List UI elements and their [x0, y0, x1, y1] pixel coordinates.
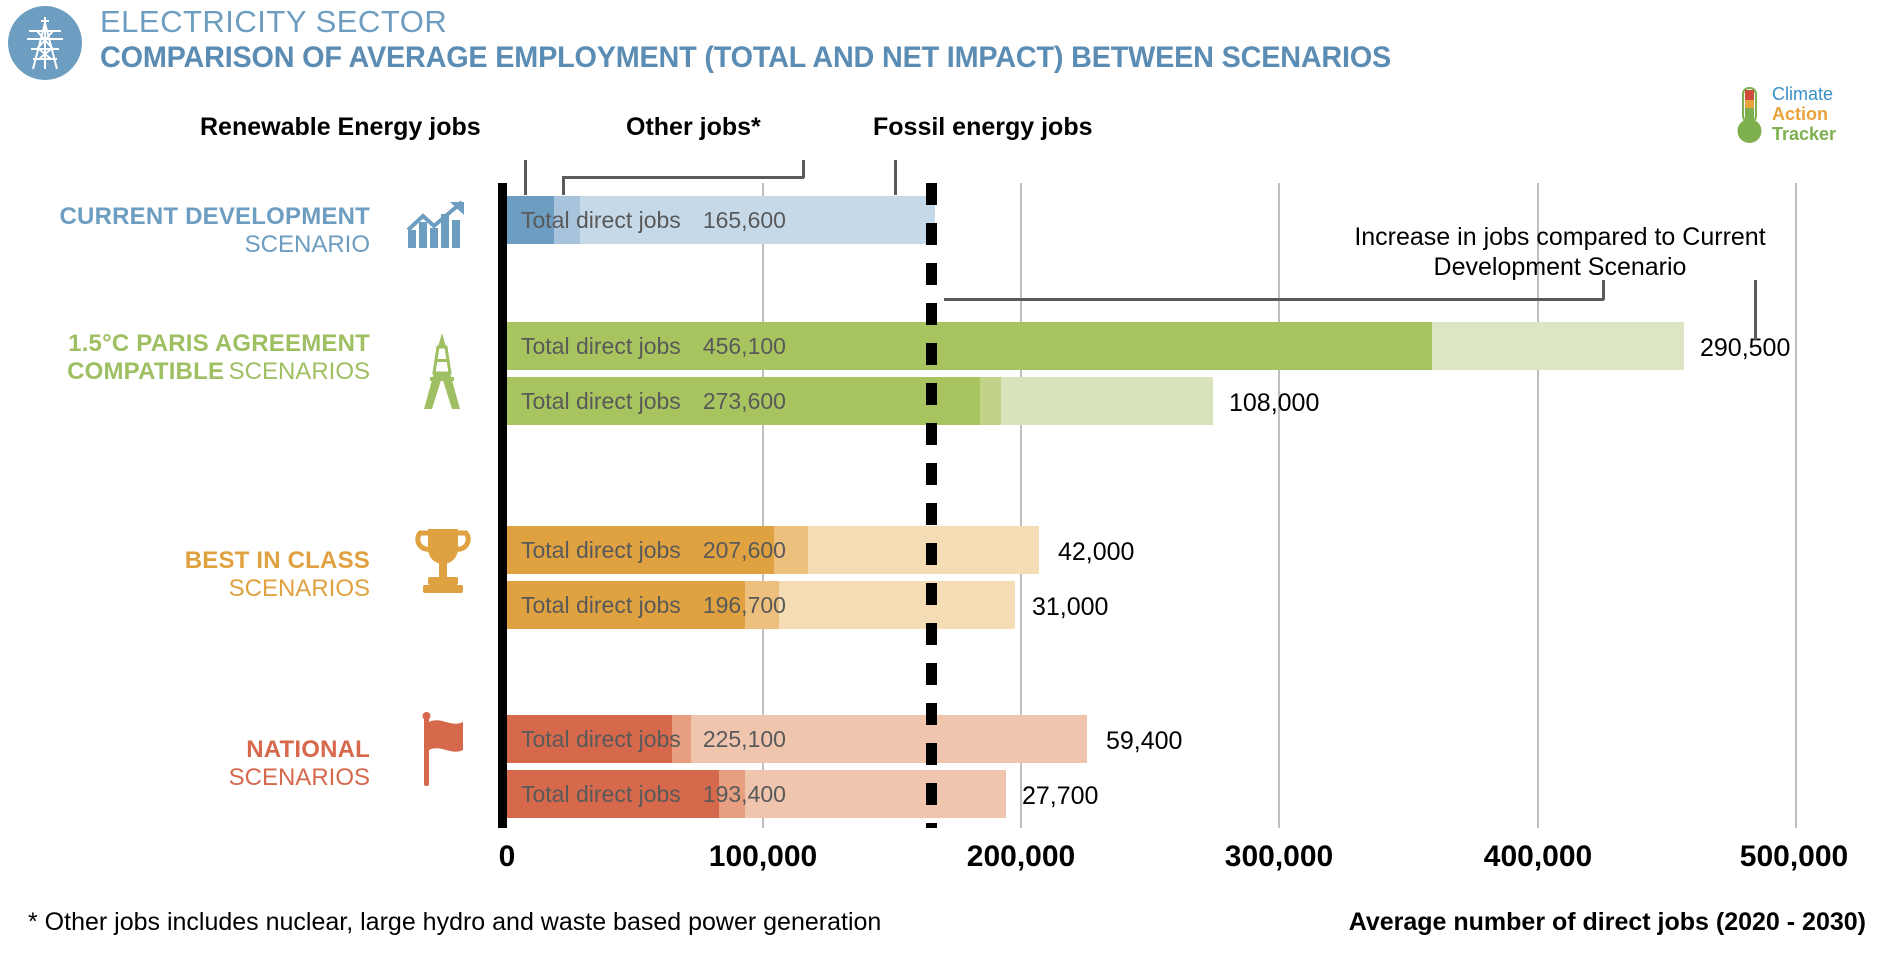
x-tick-200000: 200,000 [967, 840, 1075, 874]
row-label-bold-0: CURRENT DEVELOPMENT [0, 203, 370, 231]
x-tick-100000: 100,000 [709, 840, 817, 874]
delta-label-3: 42,000 [1058, 538, 1134, 567]
delta-label-2: 108,000 [1229, 389, 1319, 418]
delta-label-4: 31,000 [1032, 593, 1108, 622]
bar-value-label-2: Total direct jobs 273,600 [521, 377, 786, 425]
bar-row-4[interactable]: Total direct jobs 196,700 [507, 581, 1015, 629]
row-label-light-2: SCENARIOS [0, 575, 370, 603]
row-label-light-0: SCENARIO [0, 231, 370, 259]
bar-row-2[interactable]: Total direct jobs 273,600 [507, 377, 1213, 425]
bar-value-label-5: Total direct jobs 225,100 [521, 715, 786, 763]
bar-segment-fossil [779, 581, 1015, 629]
chart-plot-area: CURRENT DEVELOPMENT SCENARIO Total direc… [0, 0, 1884, 953]
bar-value-label-6: Total direct jobs 193,400 [521, 770, 786, 818]
x-tick-0: 0 [499, 840, 516, 874]
row-label-light-3: SCENARIOS [0, 764, 370, 792]
bar-value-label-4: Total direct jobs 196,700 [521, 581, 786, 629]
flag-icon [416, 712, 474, 788]
row-label-bold-2: BEST IN CLASS [0, 547, 370, 575]
delta-label-6: 27,700 [1022, 782, 1098, 811]
row-label-bold-3: NATIONAL [0, 736, 370, 764]
annotation-increase-in-jobs: Increase in jobs compared to Current Dev… [1300, 222, 1820, 282]
bar-segment-other [980, 377, 1001, 425]
annotation-connector-horizontal [944, 298, 1604, 301]
delta-label-1: 290,500 [1700, 334, 1790, 363]
bar-row-5[interactable]: Total direct jobs 225,100 [507, 715, 1087, 763]
bar-value-label-1: Total direct jobs 456,100 [521, 322, 786, 370]
row-label-national: NATIONAL SCENARIOS [0, 736, 370, 792]
annotation-connector-tick-right [1754, 280, 1757, 340]
bar-value-label-0: Total direct jobs 165,600 [521, 196, 786, 244]
bar-row-0[interactable]: Total direct jobs 165,600 [507, 196, 935, 244]
x-axis-caption: Average number of direct jobs (2020 - 20… [1349, 908, 1866, 937]
bar-row-3[interactable]: Total direct jobs 207,600 [507, 526, 1039, 574]
row-label-paris-agreement: 1.5°C PARIS AGREEMENT COMPATIBLE SCENARI… [0, 330, 370, 386]
row-label-bold-1a: 1.5°C PARIS AGREEMENT [0, 330, 370, 358]
x-tick-500000: 500,000 [1740, 840, 1848, 874]
fossil-energy-jobs-reference-line [926, 183, 937, 828]
bar-segment-fossil [1001, 377, 1213, 425]
x-tick-400000: 400,000 [1484, 840, 1592, 874]
bar-segment-increase-1 [1432, 322, 1684, 370]
x-tick-300000: 300,000 [1225, 840, 1333, 874]
bar-segment-fossil [808, 526, 1039, 574]
row-label-best-in-class: BEST IN CLASS SCENARIOS [0, 547, 370, 603]
y-axis-line [498, 183, 507, 828]
row-label-bold-1b: COMPATIBLE SCENARIOS [0, 358, 370, 386]
eiffel-tower-icon [416, 333, 468, 411]
footnote-other-jobs: * Other jobs includes nuclear, large hyd… [28, 908, 881, 937]
growth-chart-icon [406, 200, 468, 250]
row-label-current-development: CURRENT DEVELOPMENT SCENARIO [0, 203, 370, 259]
gridline-300000 [1278, 183, 1280, 828]
trophy-icon [414, 525, 472, 595]
annotation-connector-tick-left [1602, 280, 1605, 300]
bar-value-label-3: Total direct jobs 207,600 [521, 526, 786, 574]
delta-label-5: 59,400 [1106, 727, 1182, 756]
